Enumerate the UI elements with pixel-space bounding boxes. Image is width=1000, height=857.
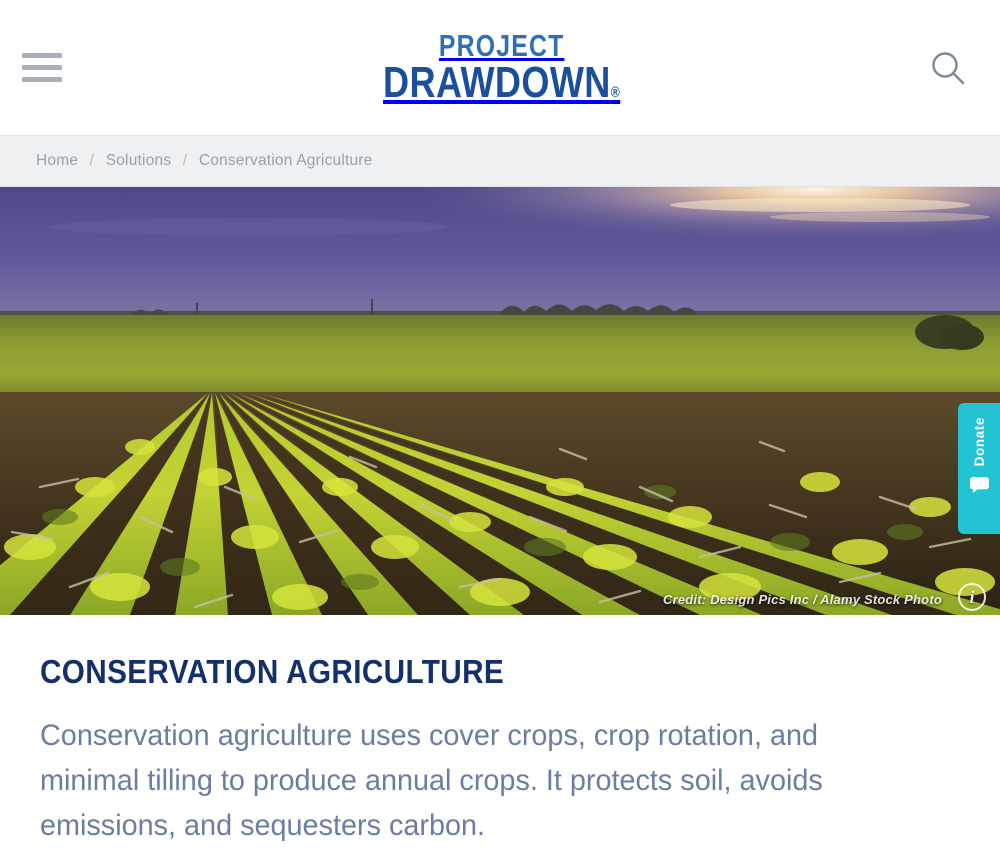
hamburger-menu-button[interactable] bbox=[22, 52, 62, 84]
breadcrumb: Home / Solutions / Conservation Agricult… bbox=[36, 152, 373, 170]
page-title: CONSERVATION AGRICULTURE bbox=[40, 653, 868, 691]
breadcrumb-item-solutions[interactable]: Solutions bbox=[106, 152, 172, 169]
hero-image-credit: Credit: Design Pics Inc / Alamy Stock Ph… bbox=[663, 592, 942, 607]
hamburger-icon-bar-2 bbox=[22, 65, 62, 70]
search-icon bbox=[928, 48, 968, 88]
page-summary: Conservation agriculture uses cover crop… bbox=[40, 713, 923, 848]
breadcrumb-item-home[interactable]: Home bbox=[36, 152, 78, 169]
donate-label: Donate bbox=[972, 417, 987, 466]
hamburger-icon-bar-1 bbox=[22, 53, 62, 58]
hero-illustration bbox=[0, 187, 1000, 615]
hero-image: Credit: Design Pics Inc / Alamy Stock Ph… bbox=[0, 187, 1000, 615]
search-button[interactable] bbox=[922, 42, 974, 94]
logo-trademark: ® bbox=[611, 84, 620, 101]
logo-line-project: PROJECT bbox=[386, 31, 617, 60]
breadcrumb-bar: Home / Solutions / Conservation Agricult… bbox=[0, 135, 1000, 187]
logo-line-drawdown: DRAWDOWN® bbox=[383, 61, 620, 106]
heart-speech-bubble-icon bbox=[970, 476, 989, 493]
site-header: PROJECT DRAWDOWN® bbox=[0, 0, 1000, 135]
donate-tab-button[interactable]: Donate bbox=[958, 403, 1000, 534]
info-icon[interactable]: i bbox=[958, 583, 986, 611]
breadcrumb-separator-2: / bbox=[183, 152, 188, 169]
main-content: CONSERVATION AGRICULTURE Conservation ag… bbox=[0, 615, 1000, 848]
breadcrumb-item-current: Conservation Agriculture bbox=[199, 152, 373, 169]
site-logo[interactable]: PROJECT DRAWDOWN® bbox=[357, 31, 646, 105]
breadcrumb-separator-1: / bbox=[90, 152, 95, 169]
hamburger-icon-bar-3 bbox=[22, 77, 62, 82]
